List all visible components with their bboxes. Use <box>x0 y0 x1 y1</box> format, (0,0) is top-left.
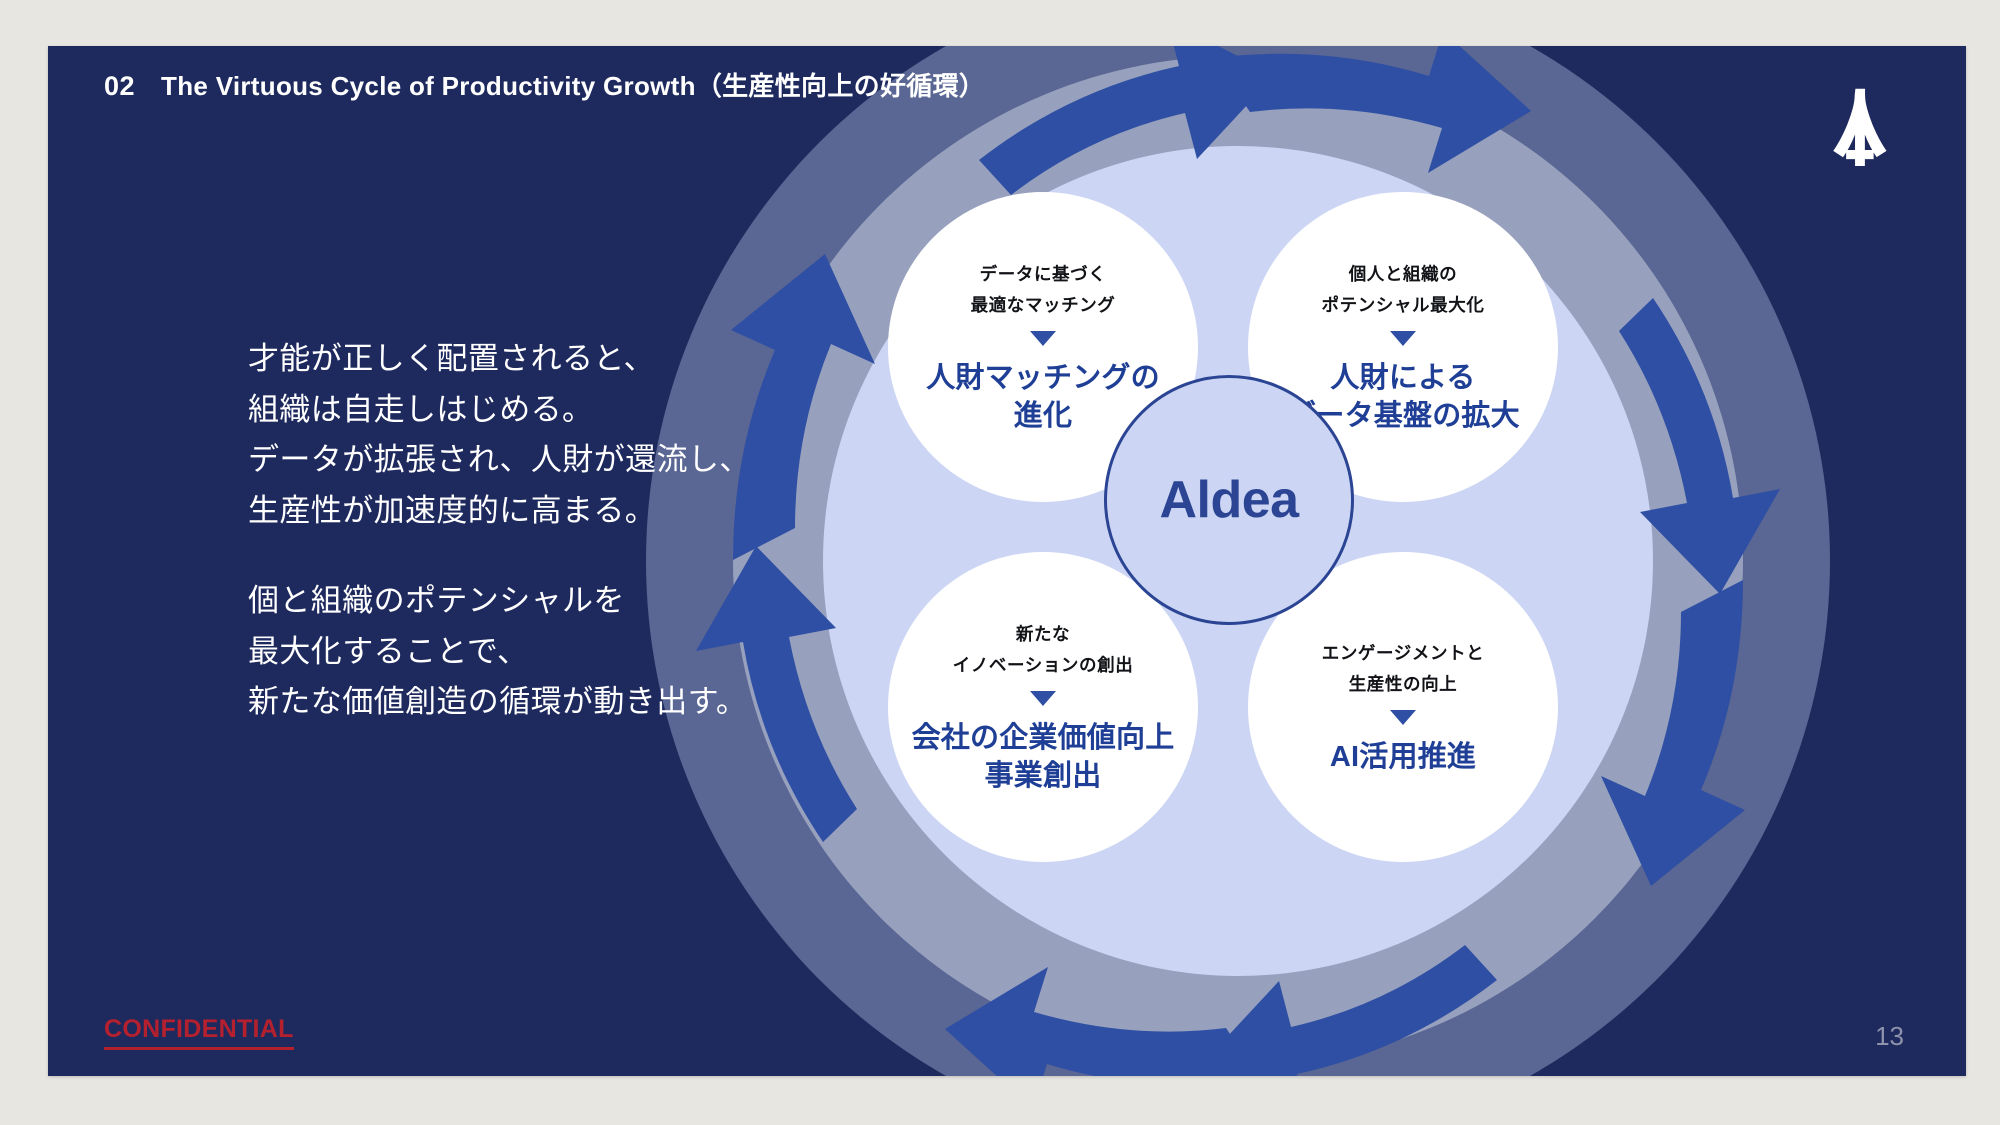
down-triangle-icon <box>1390 331 1416 346</box>
copy-p2-line1: 個と組織のポテンシャルを <box>248 576 808 627</box>
node-sub-line2: 最適なマッチング <box>971 290 1116 321</box>
node-sub-line1: データに基づく <box>980 259 1107 290</box>
hub-label: Aldea <box>1159 470 1298 530</box>
node-sub-line1: 新たな <box>1016 619 1070 650</box>
slide-page: 02 The Virtuous Cycle of Productivity Gr… <box>0 0 2000 1125</box>
cycle-arrow-right-1 <box>1619 298 1780 594</box>
node-sub-line2: ポテンシャル最大化 <box>1322 290 1485 321</box>
paragraph-spacer <box>248 536 808 576</box>
copy-p1-line1: 才能が正しく配置されると、 <box>248 334 808 385</box>
slide-canvas: 02 The Virtuous Cycle of Productivity Gr… <box>48 46 1966 1076</box>
slide-header: 02 The Virtuous Cycle of Productivity Gr… <box>104 66 985 103</box>
node-sub-line2: イノベーションの創出 <box>953 650 1134 681</box>
node-main-line1: AI活用推進 <box>1330 738 1476 776</box>
copy-p1-line3: データが拡張され、人財が還流し、 <box>248 435 808 486</box>
node-main-line1: 人財マッチングの <box>926 359 1160 397</box>
aldea-a-logo-icon <box>1818 82 1902 166</box>
cycle-arrow-bottom-1 <box>1201 945 1497 1076</box>
node-sub-line1: エンゲージメントと <box>1322 638 1485 669</box>
node-main-line2: 進化 <box>1014 397 1072 435</box>
page-title: The Virtuous Cycle of Productivity Growt… <box>161 66 985 103</box>
cycle-hub[interactable]: Aldea <box>1104 375 1354 625</box>
node-main-line1: 会社の企業価値向上 <box>912 719 1175 757</box>
section-number: 02 <box>104 71 135 102</box>
node-sub-line2: 生産性の向上 <box>1349 669 1458 700</box>
confidential-label: CONFIDENTIAL <box>104 1015 294 1050</box>
down-triangle-icon <box>1030 691 1056 706</box>
cycle-arrow-top-2 <box>1214 46 1531 173</box>
copy-p1-line2: 組織は自走しはじめる。 <box>248 385 808 436</box>
page-number: 13 <box>1875 1021 1904 1052</box>
cycle-arrow-right-2 <box>1601 580 1745 886</box>
narrative-copy: 才能が正しく配置されると、 組織は自走しはじめる。 データが拡張され、人財が還流… <box>248 334 808 728</box>
copy-p1-line4: 生産性が加速度的に高まる。 <box>248 486 808 537</box>
down-triangle-icon <box>1390 710 1416 725</box>
virtuous-cycle-diagram: データに基づく 最適なマッチング 人財マッチングの 進化 個人と組織の ポテンシ… <box>648 46 1828 1076</box>
copy-p2-line3: 新たな価値創造の循環が動き出す。 <box>248 677 808 728</box>
cycle-arrow-bottom-2 <box>945 967 1262 1076</box>
node-sub-line1: 個人と組織の <box>1349 259 1458 290</box>
copy-p2-line2: 最大化することで、 <box>248 627 808 678</box>
node-main-line2: 事業創出 <box>985 757 1102 795</box>
node-main-line1: 人財による <box>1330 359 1475 397</box>
down-triangle-icon <box>1030 331 1056 346</box>
